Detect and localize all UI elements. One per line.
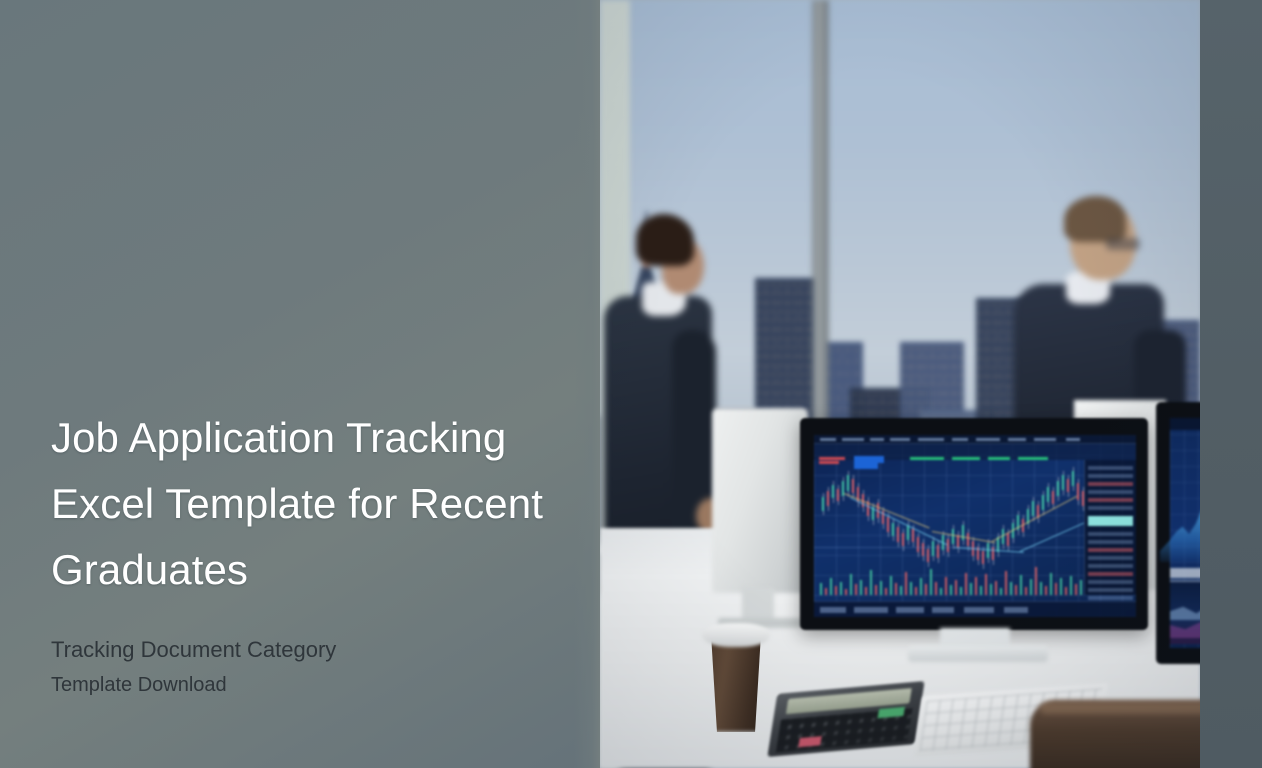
document-category-label: Tracking Document Category (51, 633, 581, 667)
volume-pane (814, 547, 1084, 595)
text-panel: Job Application Tracking Excel Template … (0, 0, 600, 768)
page-title: Job Application Tracking Excel Template … (51, 405, 571, 603)
slide-canvas: Job Application Tracking Excel Template … (0, 0, 1262, 768)
imac-computer (712, 408, 808, 593)
imac-stand (742, 588, 774, 622)
coffee-cup (708, 640, 764, 732)
template-download-label: Template Download (51, 669, 581, 701)
window-mullion (813, 0, 828, 470)
trading-chart-monitor (800, 418, 1148, 630)
slide-content: Job Application Tracking Excel Template … (51, 405, 581, 701)
secondary-monitor (1156, 402, 1200, 664)
hero-photo (600, 0, 1200, 768)
subtitle-group: Tracking Document Category Template Down… (51, 633, 581, 701)
monitor-base (908, 646, 1048, 662)
right-edge-panel (1200, 0, 1262, 768)
chart-status-bar (814, 601, 1136, 617)
trading-chart-screen (814, 435, 1136, 617)
quote-side-panel (1084, 460, 1136, 595)
coffee-cup-lid (702, 623, 770, 647)
office-chair-highlight (1040, 702, 1200, 714)
